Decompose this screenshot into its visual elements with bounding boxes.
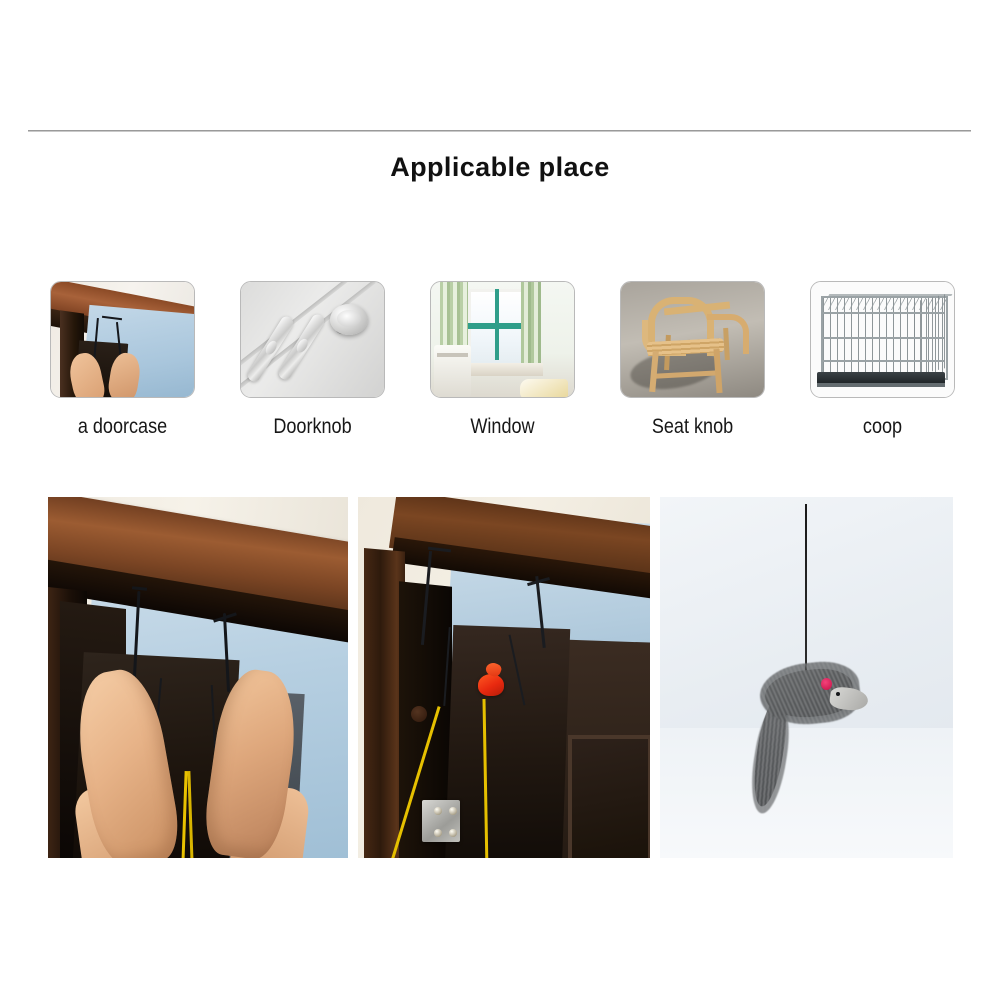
page-title: Applicable place <box>0 152 1000 183</box>
seat-knob-thumbnail <box>621 282 764 397</box>
applicable-place-label: coop <box>820 415 945 439</box>
applicable-place-item-seat-knob[interactable]: Seat knob <box>620 281 765 439</box>
applicable-place-label: Doorknob <box>250 415 375 439</box>
applicable-place-label: Window <box>440 415 565 439</box>
window-thumbnail-frame <box>430 281 575 398</box>
installed-hanger-photo <box>358 497 650 858</box>
applicable-place-label: a doorcase <box>60 415 185 439</box>
coop-thumbnail-frame <box>810 281 955 398</box>
installing-hanger-photo <box>48 497 348 858</box>
hanging-mouse-toy-photo <box>660 497 953 858</box>
top-divider <box>28 130 971 132</box>
doorknob-thumbnail <box>241 282 384 397</box>
applicable-place-item-doorcase[interactable]: a doorcase <box>50 281 195 439</box>
doorcase-thumbnail-frame <box>50 281 195 398</box>
doorcase-thumbnail <box>51 282 194 397</box>
applicable-place-item-coop[interactable]: coop <box>810 281 955 439</box>
applicable-place-label: Seat knob <box>630 415 755 439</box>
coop-thumbnail <box>811 282 954 397</box>
applicable-place-item-window[interactable]: Window <box>430 281 575 439</box>
demo-photo-row <box>48 497 953 858</box>
applicable-places-strip: a doorcase Doorknob <box>50 281 955 461</box>
applicable-place-item-doorknob[interactable]: Doorknob <box>240 281 385 439</box>
window-thumbnail <box>431 282 574 397</box>
doorknob-thumbnail-frame <box>240 281 385 398</box>
seat-knob-thumbnail-frame <box>620 281 765 398</box>
infographic-page: Applicable place a door <box>0 0 1000 1000</box>
